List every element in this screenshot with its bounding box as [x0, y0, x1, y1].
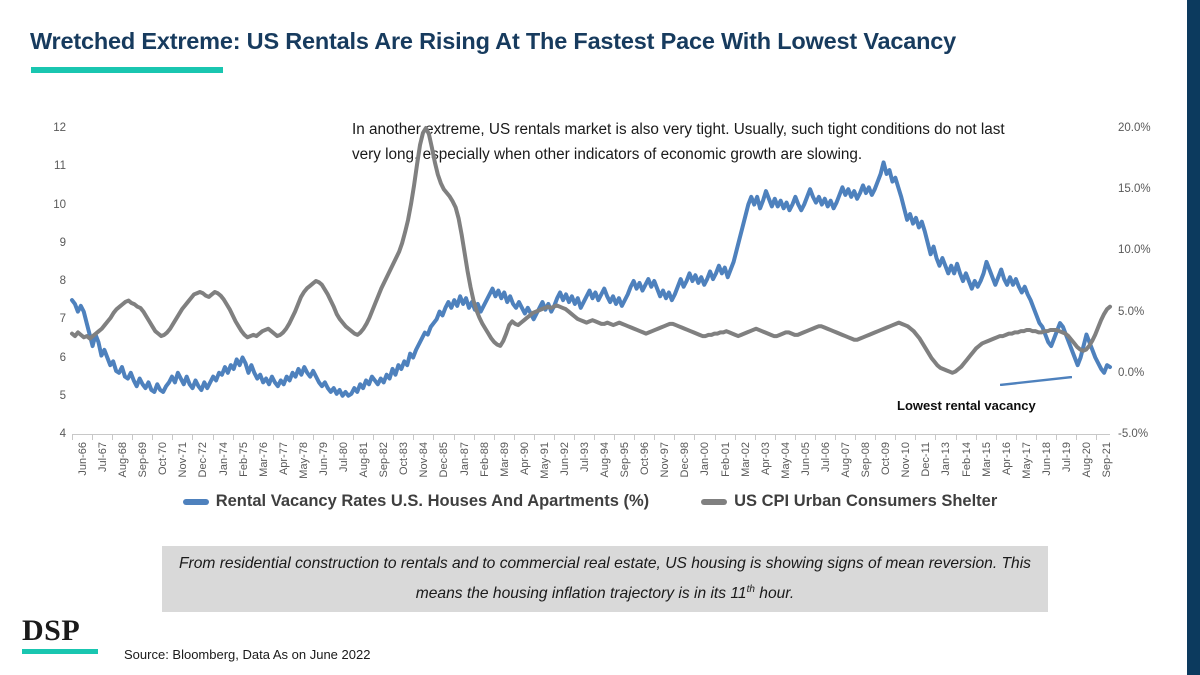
x-axis-tick-mark: [674, 434, 675, 440]
legend-item-rental-vacancy[interactable]: Rental Vacancy Rates U.S. Houses And Apa…: [183, 492, 649, 511]
x-axis-tick-label: Aug-81: [358, 442, 370, 477]
dsp-logo: DSP: [22, 616, 100, 654]
x-axis-tick-mark: [735, 434, 736, 440]
x-axis-tick-mark: [755, 434, 756, 440]
x-axis-tick-label: Mar-15: [981, 442, 993, 477]
x-axis-tick-label: Jan-13: [940, 442, 952, 476]
y-right-tick-label: 20.0%: [1118, 122, 1178, 134]
x-axis-tick-label: Apr-90: [519, 442, 531, 475]
y-right-tick-label: 15.0%: [1118, 183, 1178, 195]
legend-label-rental-vacancy: Rental Vacancy Rates U.S. Houses And Apa…: [216, 492, 649, 511]
caption-prefix: From residential construction to rentals…: [179, 555, 1031, 602]
source-note: Source: Bloomberg, Data As on June 2022: [124, 647, 370, 662]
caption-text: From residential construction to rentals…: [178, 551, 1032, 607]
x-axis-tick-mark: [353, 434, 354, 440]
x-axis-tick-mark: [574, 434, 575, 440]
x-axis-tick-label: Nov-10: [900, 442, 912, 477]
chart-container: 456789101112 -5.0%0.0%5.0%10.0%15.0%20.0…: [0, 120, 1180, 440]
chart-plot-area: [72, 128, 1110, 434]
x-axis-tick-mark: [1036, 434, 1037, 440]
x-axis-tick-mark: [333, 434, 334, 440]
x-axis-tick-mark: [935, 434, 936, 440]
x-axis-line: [72, 434, 1110, 435]
dsp-logo-underline: [22, 649, 98, 654]
x-axis-tick-mark: [915, 434, 916, 440]
legend-swatch-blue: [183, 499, 209, 505]
x-axis-tick-label: Jul-06: [820, 442, 832, 472]
x-axis-tick-label: Jun-66: [77, 442, 89, 476]
x-axis-tick-label: Dec-85: [438, 442, 450, 477]
x-axis-tick-mark: [494, 434, 495, 440]
x-axis-tick-mark: [654, 434, 655, 440]
x-axis-tick-mark: [514, 434, 515, 440]
legend-item-cpi-shelter[interactable]: US CPI Urban Consumers Shelter: [701, 492, 997, 511]
y-left-tick-label: 8: [26, 275, 66, 287]
x-axis-tick-label: Jun-18: [1041, 442, 1053, 476]
y-left-tick-label: 6: [26, 352, 66, 364]
x-axis-tick-mark: [454, 434, 455, 440]
x-axis-tick-mark: [614, 434, 615, 440]
dsp-logo-text: DSP: [22, 616, 100, 646]
y-left-tick-label: 7: [26, 313, 66, 325]
x-axis-tick-label: Jun-92: [559, 442, 571, 476]
x-axis-tick-mark: [273, 434, 274, 440]
x-axis-tick-label: Feb-01: [720, 442, 732, 477]
x-axis-tick-mark: [413, 434, 414, 440]
x-axis-tick-mark: [313, 434, 314, 440]
legend-label-cpi-shelter: US CPI Urban Consumers Shelter: [734, 492, 997, 511]
x-axis-tick-label: Aug-94: [599, 442, 611, 477]
x-axis-tick-mark: [393, 434, 394, 440]
x-axis-tick-mark: [293, 434, 294, 440]
lowest-vacancy-pointer-line: [1000, 376, 1072, 386]
x-axis-tick-label: Jun-05: [800, 442, 812, 476]
x-axis-tick-label: Mar-89: [499, 442, 511, 477]
x-axis-tick-label: Oct-70: [157, 442, 169, 475]
x-axis-tick-label: Apr-77: [278, 442, 290, 475]
x-axis-tick-mark: [775, 434, 776, 440]
y-left-tick-label: 5: [26, 390, 66, 402]
x-axis-tick-mark: [1016, 434, 1017, 440]
x-axis-tick-label: Dec-98: [679, 442, 691, 477]
series-line-1: [72, 128, 1110, 373]
y-left-tick-label: 12: [26, 122, 66, 134]
x-axis-tick-label: Mar-76: [258, 442, 270, 477]
caption-superscript: th: [747, 584, 755, 595]
x-axis-tick-label: Feb-88: [479, 442, 491, 477]
x-axis-tick-mark: [132, 434, 133, 440]
x-axis-tick-label: Feb-14: [961, 442, 973, 477]
x-axis-tick-mark: [172, 434, 173, 440]
x-axis-tick-label: Sep-82: [378, 442, 390, 477]
y-left-tick-label: 4: [26, 428, 66, 440]
x-axis-tick-mark: [1056, 434, 1057, 440]
x-axis-tick-label: Apr-16: [1001, 442, 1013, 475]
y-right-tick-label: 10.0%: [1118, 244, 1178, 256]
x-axis-tick-mark: [554, 434, 555, 440]
x-axis-tick-label: Jan-87: [459, 442, 471, 476]
x-axis-tick-mark: [875, 434, 876, 440]
x-axis-tick-label: Oct-83: [398, 442, 410, 475]
caption-suffix: hour.: [755, 585, 794, 602]
chart-series-svg: [72, 128, 1110, 434]
x-axis-tick-label: Mar-02: [740, 442, 752, 477]
x-axis-tick-mark: [534, 434, 535, 440]
x-axis-tick-label: Feb-75: [238, 442, 250, 477]
x-axis-tick-label: Nov-97: [659, 442, 671, 477]
x-axis-tick-label: Jan-00: [699, 442, 711, 476]
x-axis-tick-mark: [253, 434, 254, 440]
legend-swatch-gray: [701, 499, 727, 505]
x-axis-tick-label: Aug-68: [117, 442, 129, 477]
x-axis-tick-label: Jun-79: [318, 442, 330, 476]
slide-root: Wretched Extreme: US Rentals Are Rising …: [0, 0, 1200, 675]
x-axis-tick-label: Sep-69: [137, 442, 149, 477]
x-axis-tick-mark: [976, 434, 977, 440]
x-axis-tick-mark: [233, 434, 234, 440]
x-axis-tick-mark: [996, 434, 997, 440]
x-axis-tick-mark: [795, 434, 796, 440]
x-axis-tick-mark: [213, 434, 214, 440]
x-axis-tick-label: May-78: [298, 442, 310, 479]
x-axis-tick-label: Oct-09: [880, 442, 892, 475]
x-axis-tick-mark: [634, 434, 635, 440]
x-axis-tick-label: Apr-03: [760, 442, 772, 475]
x-axis-tick-label: Sep-21: [1101, 442, 1113, 477]
x-axis-tick-label: Jul-93: [579, 442, 591, 472]
y-left-tick-label: 11: [26, 160, 66, 172]
title-underline: [31, 67, 223, 73]
x-axis-tick-label: Dec-11: [920, 442, 932, 477]
chart-legend: Rental Vacancy Rates U.S. Houses And Apa…: [0, 492, 1180, 511]
series-line-0: [72, 162, 1110, 395]
x-axis-tick-mark: [895, 434, 896, 440]
x-axis-tick-label: Nov-71: [177, 442, 189, 477]
x-axis-tick-mark: [1096, 434, 1097, 440]
y-left-tick-label: 9: [26, 237, 66, 249]
x-axis-tick-mark: [835, 434, 836, 440]
x-axis-tick-label: Dec-72: [197, 442, 209, 477]
x-axis-tick-label: May-91: [539, 442, 551, 479]
lowest-vacancy-label: Lowest rental vacancy: [897, 398, 1036, 413]
x-axis-tick-mark: [373, 434, 374, 440]
x-axis-tick-mark: [72, 434, 73, 440]
x-axis-tick-mark: [112, 434, 113, 440]
x-axis-tick-label: Aug-07: [840, 442, 852, 477]
x-axis-tick-label: Jul-67: [97, 442, 109, 472]
y-right-tick-label: 5.0%: [1118, 306, 1178, 318]
y-right-tick-label: -5.0%: [1118, 428, 1178, 440]
x-axis-tick-mark: [433, 434, 434, 440]
y-left-tick-label: 10: [26, 199, 66, 211]
x-axis-tick-mark: [715, 434, 716, 440]
right-accent-bar: [1187, 0, 1200, 675]
x-axis-tick-mark: [474, 434, 475, 440]
x-axis-tick-mark: [152, 434, 153, 440]
x-axis-tick-label: Sep-95: [619, 442, 631, 477]
caption-box: From residential construction to rentals…: [162, 546, 1048, 612]
x-axis-tick-label: Jan-74: [218, 442, 230, 476]
y-right-tick-label: 0.0%: [1118, 367, 1178, 379]
page-title: Wretched Extreme: US Rentals Are Rising …: [30, 28, 1140, 55]
x-axis-tick-mark: [92, 434, 93, 440]
x-axis-tick-label: May-04: [780, 442, 792, 479]
x-axis-tick-mark: [956, 434, 957, 440]
x-axis-tick-label: May-17: [1021, 442, 1033, 479]
x-axis-tick-mark: [815, 434, 816, 440]
x-axis-tick-mark: [1076, 434, 1077, 440]
x-axis-tick-label: Oct-96: [639, 442, 651, 475]
x-axis-tick-mark: [694, 434, 695, 440]
x-axis-tick-mark: [594, 434, 595, 440]
x-axis-tick-label: Sep-08: [860, 442, 872, 477]
x-axis-tick-label: Jul-19: [1061, 442, 1073, 472]
x-axis-tick-label: Aug-20: [1081, 442, 1093, 477]
x-axis-tick-label: Jul-80: [338, 442, 350, 472]
x-axis-tick-mark: [855, 434, 856, 440]
x-axis-tick-mark: [192, 434, 193, 440]
x-axis-tick-label: Nov-84: [418, 442, 430, 477]
